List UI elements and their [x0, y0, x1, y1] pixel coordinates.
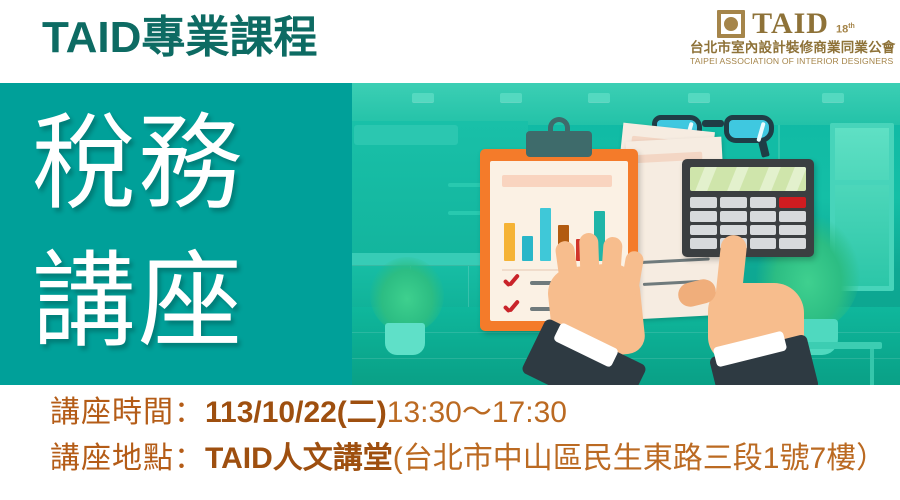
logo-name-en: TAIPEI ASSOCIATION OF INTERIOR DESIGNERS [690, 56, 882, 67]
calculator-key [750, 225, 777, 236]
logo-square-circle-icon [717, 10, 745, 38]
logo-edition: 18th [836, 23, 855, 36]
clipboard-clamp [526, 131, 592, 157]
chart-bar [504, 223, 515, 261]
table-leg [870, 349, 874, 385]
event-address: (台北市中山區民生東路三段1號7樓） [393, 442, 886, 475]
calculator-key [750, 197, 777, 208]
right-hand [680, 241, 840, 385]
calculator-key [690, 225, 717, 236]
ceiling-light-icon [588, 93, 610, 102]
checkmark-icon [502, 299, 520, 317]
chart-bar [522, 236, 533, 261]
potted-plant-left-pot [385, 323, 425, 355]
left-hand [528, 259, 678, 385]
event-place-label: 講座地點： [50, 442, 205, 475]
banner-title-line-2: 講座 [32, 233, 342, 371]
ceiling-light-icon [822, 93, 844, 102]
event-place-row: 講座地點：TAID人文講堂(台北市中山區民生東路三段1號7樓） [50, 440, 890, 478]
lens-shine [756, 122, 765, 142]
logo-edition-number: 18 [836, 24, 848, 36]
sheet-header-band [502, 175, 612, 187]
calculator-key [720, 197, 747, 208]
wall-cabinet [354, 125, 458, 145]
finger [600, 236, 623, 293]
event-poster: TAID專業課程 TAID 18th 台北市室內設計裝修商業同業公會 TAIPE… [0, 0, 900, 500]
logo-wordmark-row: TAID 18th [690, 8, 882, 40]
page-title: TAID專業課程 [42, 6, 317, 70]
banner: 稅務 講座 [0, 83, 900, 385]
ceiling-light-icon [688, 93, 710, 102]
event-time-label: 講座時間： [50, 396, 205, 429]
calculator-key [690, 211, 717, 222]
calculator-key [690, 197, 717, 208]
taid-logo: TAID 18th 台北市室內設計裝修商業同業公會 TAIPEI ASSOCIA… [690, 8, 882, 70]
event-time-row: 講座時間：113/10/22(二)13:30～17:30 [50, 394, 890, 432]
logo-edition-suffix: th [848, 23, 855, 30]
event-date: 113/10/22(二) [205, 396, 387, 429]
finger [579, 233, 600, 294]
banner-title-line-1: 稅務 [32, 95, 342, 233]
ceiling-light-icon [412, 93, 434, 102]
glasses-bridge [702, 120, 724, 127]
calculator-key [750, 211, 777, 222]
event-venue: TAID人文講堂 [205, 442, 393, 475]
banner-title: 稅務 講座 [32, 95, 342, 371]
calculator-key [720, 225, 747, 236]
logo-name-zh: 台北市室內設計裝修商業同業公會 [690, 40, 882, 56]
calculator-key-red [779, 197, 806, 208]
logo-wordmark-text: TAID [752, 9, 829, 39]
checkmark-icon [502, 273, 520, 291]
illustration [352, 83, 900, 385]
calculator-key [779, 225, 806, 236]
calculator-display [690, 167, 806, 191]
glasses-lens-right [724, 115, 774, 143]
calculator-key [779, 211, 806, 222]
calculator-key [720, 211, 747, 222]
event-time-range: 13:30～17:30 [387, 396, 567, 429]
chart-bar [540, 208, 551, 261]
ceiling [352, 83, 900, 125]
potted-plant-left [370, 257, 444, 333]
ceiling-light-icon [500, 93, 522, 102]
